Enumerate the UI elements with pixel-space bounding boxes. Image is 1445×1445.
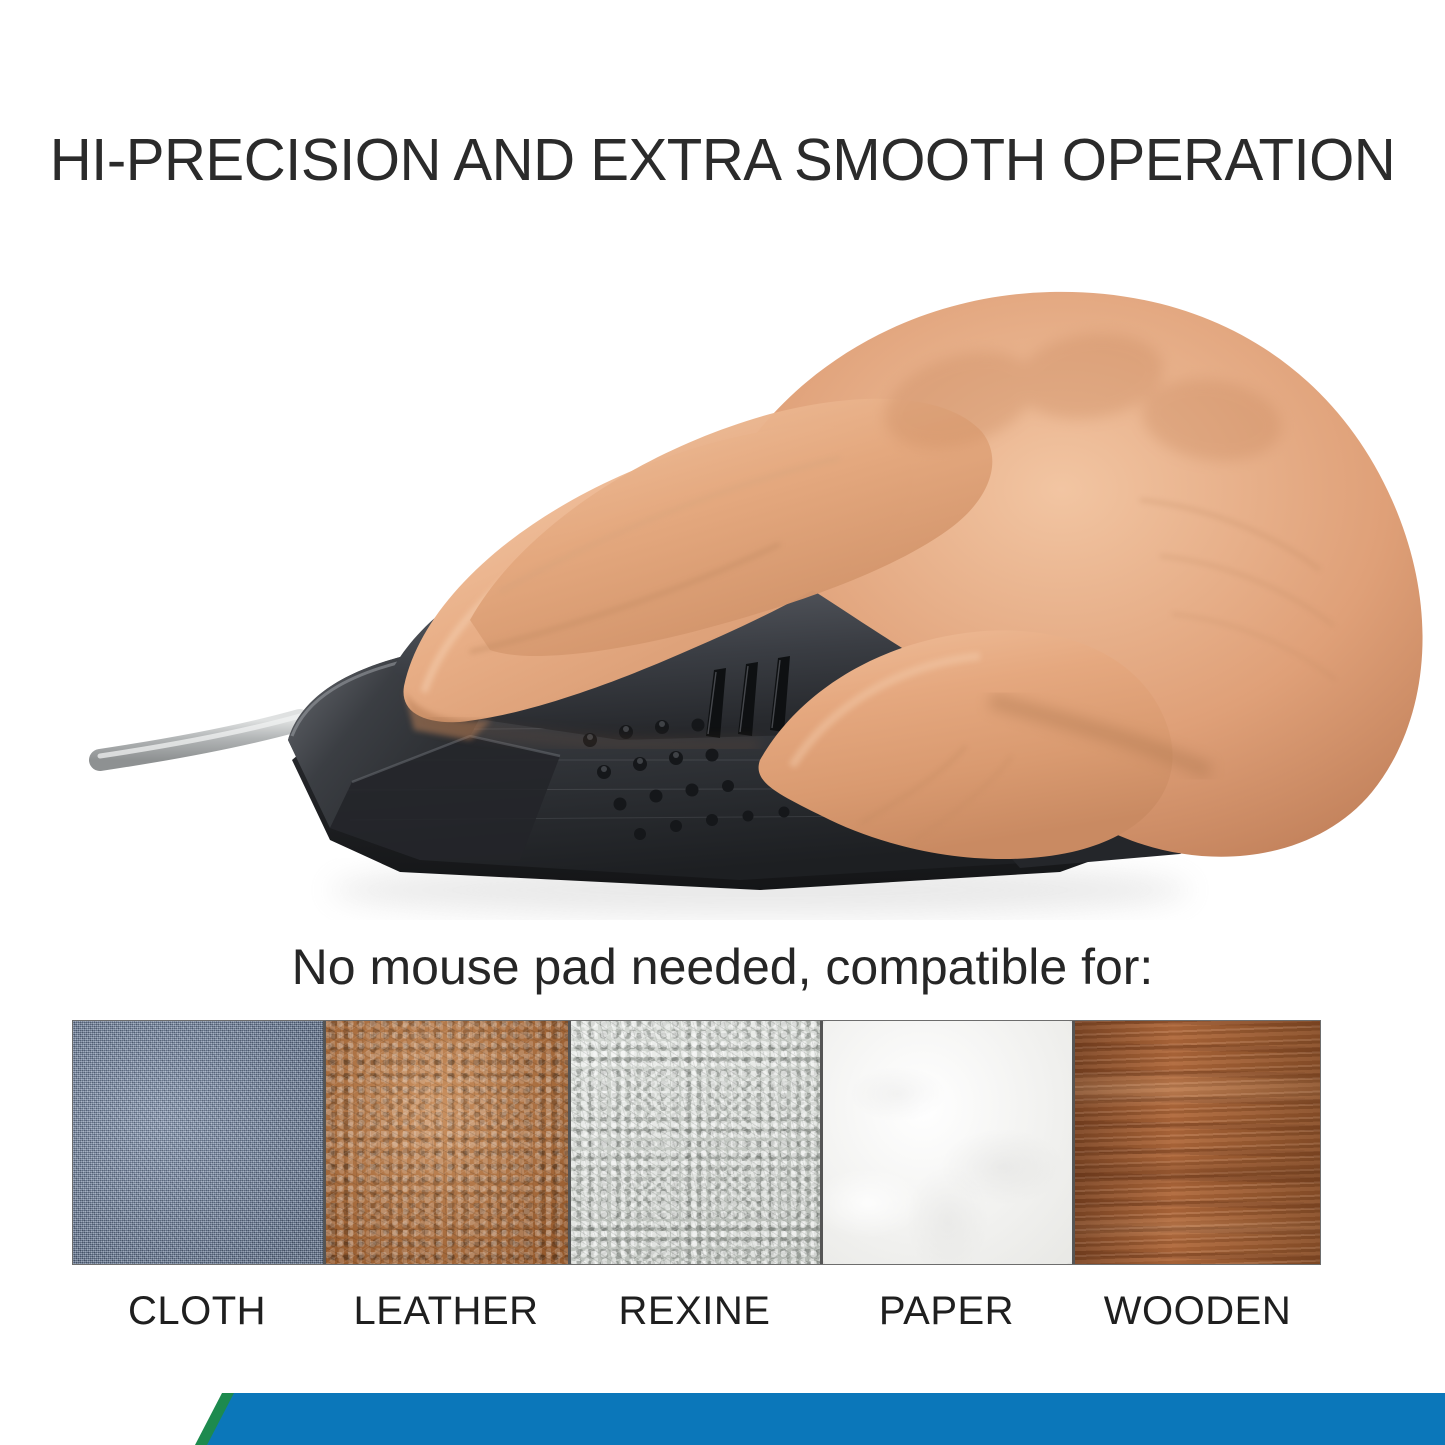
headline: HI-PRECISION AND EXTRA SMOOTH OPERATION: [11, 126, 1434, 194]
surface-label-row: CLOTH LEATHER REXINE PAPER WOODEN: [72, 1285, 1321, 1337]
subtitle: No mouse pad needed, compatible for:: [0, 938, 1445, 996]
surface-swatch-strip: [72, 1020, 1321, 1265]
mouse-illustration: [0, 200, 1445, 920]
wooden-texture: [1075, 1021, 1320, 1264]
label-paper: PAPER: [822, 1285, 1071, 1337]
label-cloth: CLOTH: [72, 1285, 322, 1337]
swatch-wooden: [1075, 1021, 1320, 1264]
swatch-leather: [326, 1021, 568, 1264]
leather-texture: [326, 1021, 568, 1264]
accent-blue-shape: [207, 1393, 1445, 1445]
bottom-accent-bar: [0, 1393, 1445, 1445]
swatch-rexine: [571, 1021, 820, 1264]
swatch-cloth: [73, 1021, 323, 1264]
label-leather: LEATHER: [325, 1285, 567, 1337]
label-rexine: REXINE: [570, 1285, 819, 1337]
rexine-texture: [571, 1021, 820, 1264]
cloth-texture: [73, 1021, 323, 1264]
hero-image-hand-on-mouse: [0, 200, 1445, 920]
product-feature-card: HI-PRECISION AND EXTRA SMOOTH OPERATION: [0, 0, 1445, 1445]
paper-texture: [823, 1021, 1072, 1264]
swatch-paper: [823, 1021, 1072, 1264]
label-wooden: WOODEN: [1074, 1285, 1321, 1337]
